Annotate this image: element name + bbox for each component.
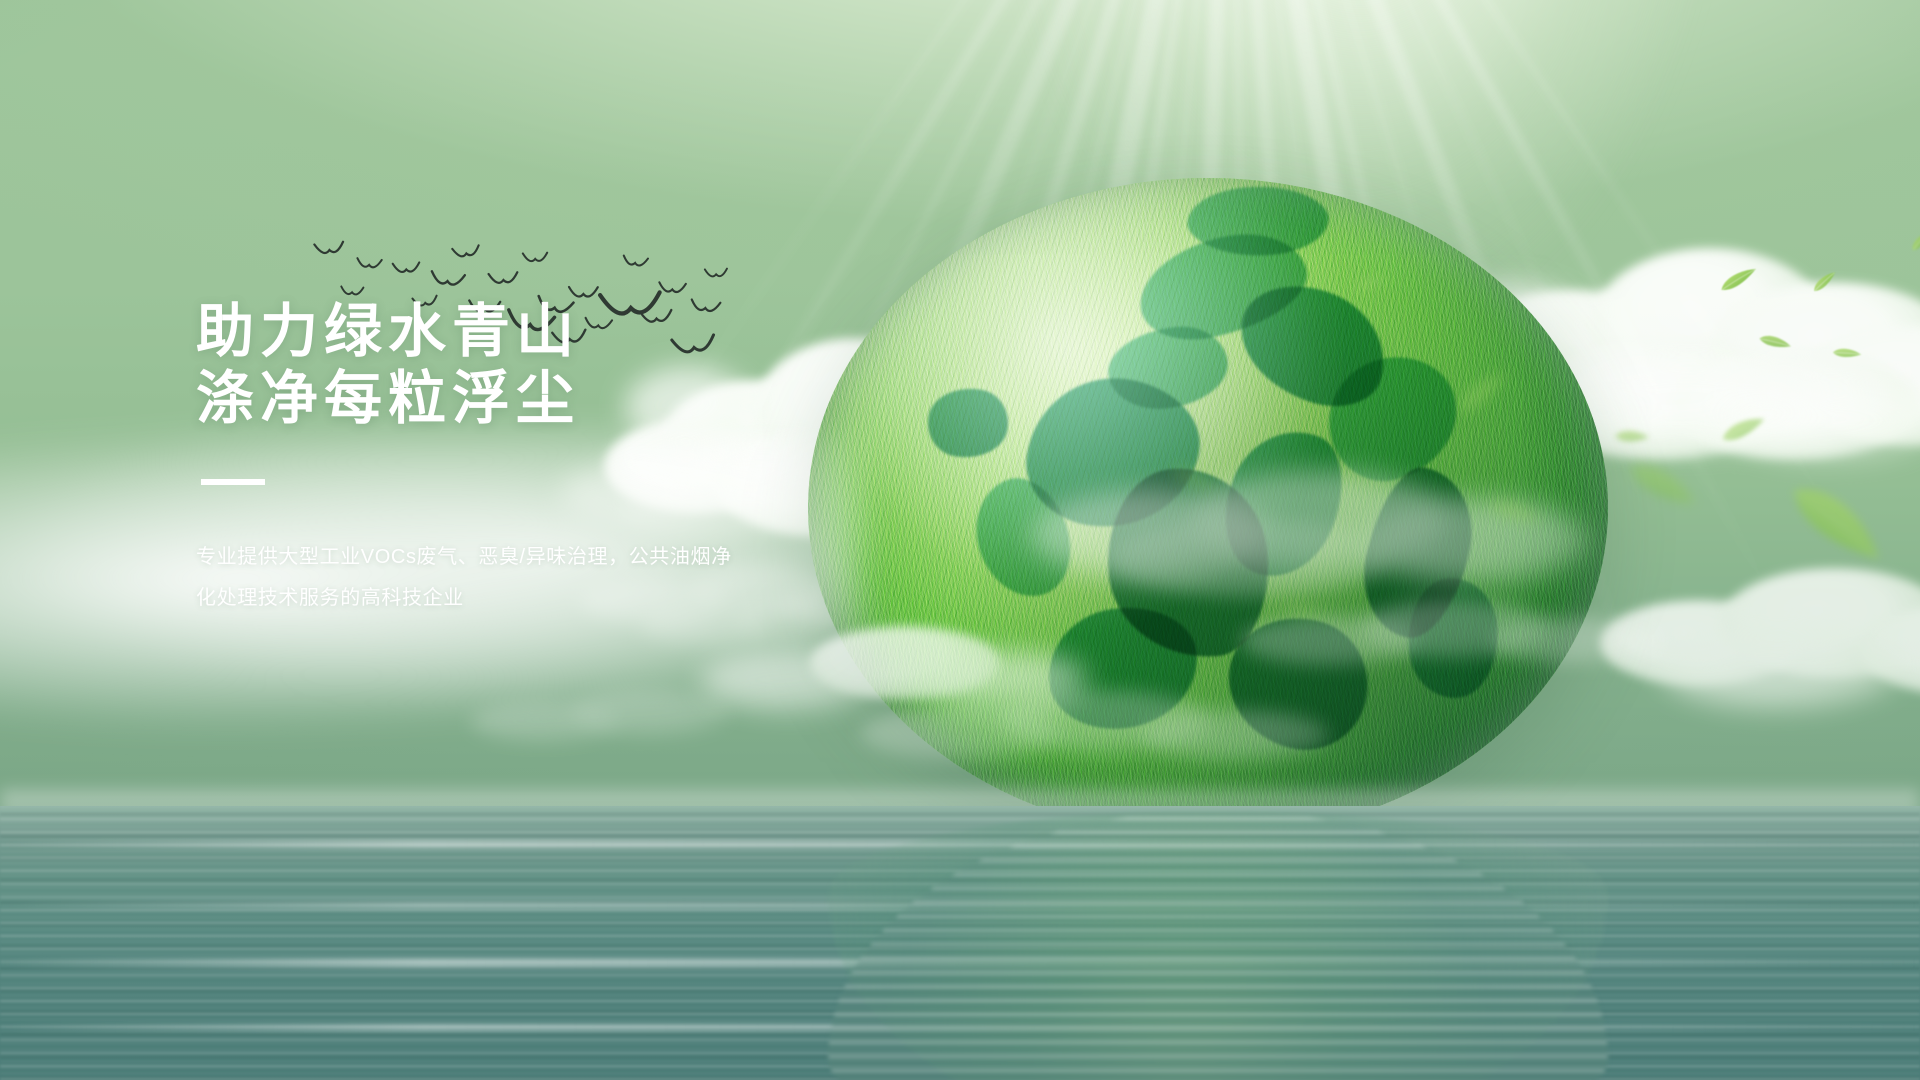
bird-icon xyxy=(313,240,345,259)
headline-line-1: 助力绿水青山 xyxy=(196,298,836,365)
headline-line-2: 涤净每粒浮尘 xyxy=(196,365,836,432)
bird-icon xyxy=(704,268,729,281)
subtitle-line-2: 化处理技术服务的高科技企业 xyxy=(196,587,464,609)
bird-icon xyxy=(658,281,687,297)
bird-icon xyxy=(429,270,466,291)
bird-icon xyxy=(356,257,383,272)
bird-icon xyxy=(488,271,520,289)
eco-hero-banner: 助力绿水青山 涤净每粒浮尘 专业提供大型工业VOCs废气、恶臭/异味治理，公共油… xyxy=(0,0,1920,1080)
subtitle-block: 专业提供大型工业VOCs废气、恶臭/异味治理，公共油烟净 化处理技术服务的高科技… xyxy=(196,537,736,619)
hero-copy-block: 助力绿水青山 涤净每粒浮尘 专业提供大型工业VOCs废气、恶臭/异味治理，公共油… xyxy=(196,298,836,619)
bird-icon xyxy=(340,285,365,298)
bird-icon xyxy=(522,252,549,266)
headline-divider xyxy=(201,479,265,485)
bird-icon xyxy=(392,261,421,277)
subtitle-line-1: 专业提供大型工业VOCs废气、恶臭/异味治理，公共油烟净 xyxy=(196,546,732,568)
